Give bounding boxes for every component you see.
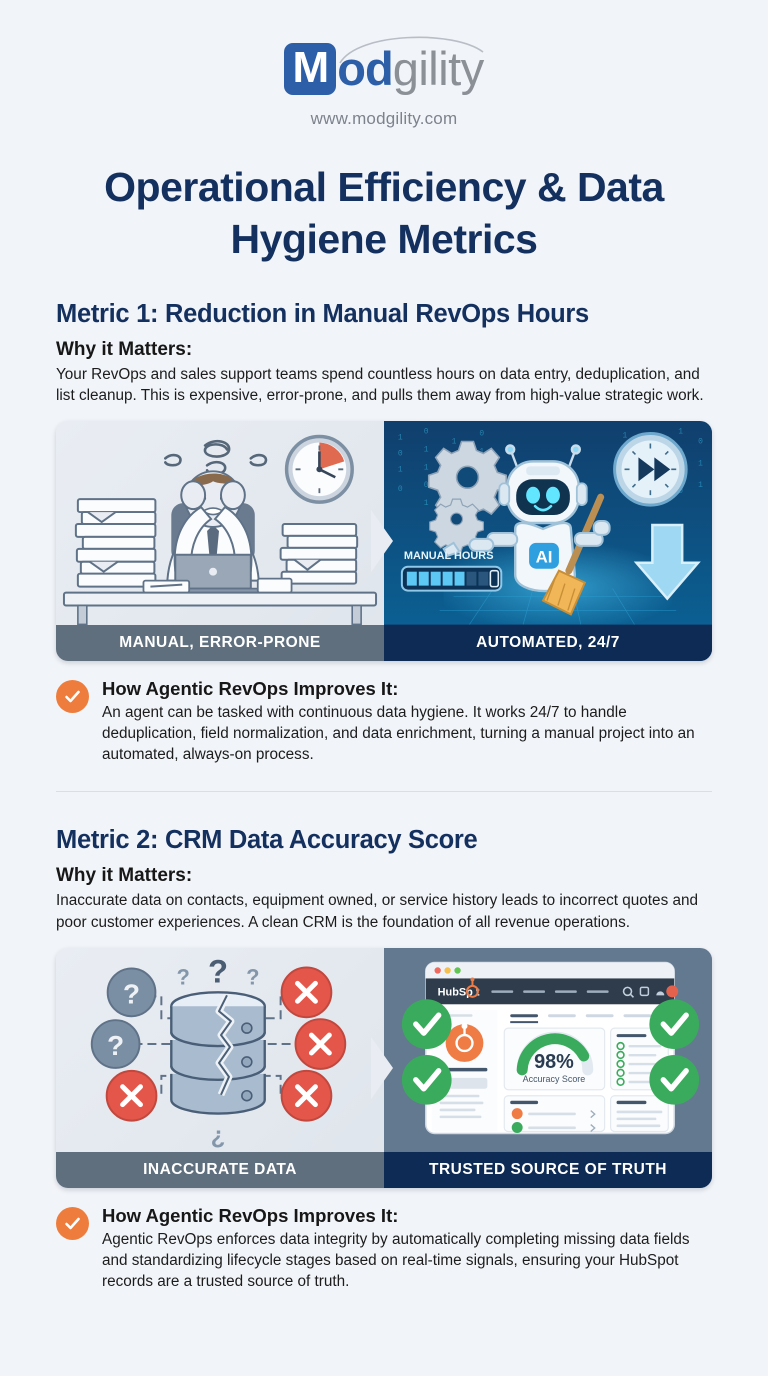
ai-robot-scene: 1010 01101 101 010 1010 011 1010 011: [384, 421, 712, 625]
svg-text:0: 0: [398, 450, 403, 459]
panel-2-left-inaccurate: ? ?: [56, 948, 384, 1188]
check-circle-icon: [56, 680, 89, 713]
website-url: www.modgility.com: [56, 109, 712, 129]
svg-text:1: 1: [398, 465, 403, 474]
metric-1-why-body: Your RevOps and sales support teams spen…: [56, 364, 712, 406]
logo-m-mark: M: [284, 43, 336, 95]
svg-text:1: 1: [424, 499, 429, 508]
broken-database-icon: ? ?: [56, 948, 384, 1152]
svg-text:?: ?: [107, 1030, 124, 1061]
modgility-logo: M od gility: [284, 38, 483, 100]
chevron-right-icon: [371, 510, 397, 572]
svg-text:?: ?: [208, 952, 228, 989]
hubspot-dashboard-icon: HubSp t: [384, 948, 712, 1152]
ai-robot-icon: 1010 01101 101 010 1010 011 1010 011: [384, 421, 712, 625]
metric-2-improves-body: Agentic RevOps enforces data integrity b…: [102, 1229, 712, 1292]
svg-text:¿: ¿: [211, 1122, 226, 1149]
metric-2-why-body: Inaccurate data on contacts, equipment o…: [56, 890, 712, 932]
svg-text:1: 1: [623, 432, 628, 441]
panel-1-right-caption: AUTOMATED, 24/7: [384, 625, 712, 661]
svg-text:0: 0: [698, 438, 703, 447]
panel-1-left-caption: MANUAL, ERROR-PRONE: [56, 625, 384, 661]
metric-2-title: Metric 2: CRM Data Accuracy Score: [56, 826, 712, 855]
manual-hours-meter: [407, 571, 498, 587]
svg-text:0: 0: [424, 428, 429, 437]
svg-text:1: 1: [452, 438, 457, 447]
panel-2-left-caption: INACCURATE DATA: [56, 1152, 384, 1188]
logo-gility-text: gility: [393, 43, 484, 95]
panel-2-right-caption: TRUSTED SOURCE OF TRUTH: [384, 1152, 712, 1188]
metric-section-1: Metric 1: Reduction in Manual RevOps Hou…: [56, 300, 712, 766]
infographic-page: M od gility www.modgility.com Operationa…: [0, 0, 768, 1376]
metric-1-why-label: Why it Matters:: [56, 339, 712, 361]
metric-1-illustration: MANUAL, ERROR-PRONE: [56, 421, 712, 661]
logo-od-text: od: [337, 43, 392, 95]
hubspot-dashboard-scene: HubSp t: [384, 948, 712, 1152]
panel-2-right-trusted: HubSp t: [384, 948, 712, 1188]
svg-text:0: 0: [479, 430, 484, 439]
panel-1-right-automated: 1010 01101 101 010 1010 011 1010 011: [384, 421, 712, 661]
metric-1-improves-body: An agent can be tasked with continuous d…: [102, 702, 712, 765]
svg-text:1: 1: [424, 463, 429, 472]
brand-header: M od gility www.modgility.com: [56, 0, 712, 129]
svg-text:1: 1: [698, 481, 703, 490]
broken-database-scene: ? ?: [56, 948, 384, 1152]
metric-2-illustration: ? ?: [56, 948, 712, 1188]
accuracy-gauge-label: Accuracy Score: [523, 1074, 586, 1084]
check-circle-icon: [56, 1207, 89, 1240]
accuracy-gauge-value: 98%: [534, 1051, 574, 1073]
metric-1-improves-title: How Agentic RevOps Improves It:: [102, 678, 712, 700]
svg-text:1: 1: [698, 460, 703, 469]
metric-2-improves-title: How Agentic RevOps Improves It:: [102, 1205, 712, 1227]
section-divider: [56, 791, 712, 792]
metric-2-why-label: Why it Matters:: [56, 865, 712, 887]
svg-text:?: ?: [246, 964, 259, 989]
check-icon: [63, 687, 82, 706]
stressed-worker-scene: [56, 421, 384, 625]
stressed-worker-icon: [56, 421, 384, 625]
manual-hours-label: MANUAL HOURS: [404, 550, 494, 562]
svg-text:1: 1: [678, 428, 683, 437]
chevron-right-icon: [371, 1037, 397, 1099]
metric-1-title: Metric 1: Reduction in Manual RevOps Hou…: [56, 300, 712, 329]
page-title: Operational Efficiency & Data Hygiene Me…: [56, 161, 712, 266]
svg-text:1: 1: [424, 446, 429, 455]
panel-1-left-manual: MANUAL, ERROR-PRONE: [56, 421, 384, 661]
metric-section-2: Metric 2: CRM Data Accuracy Score Why it…: [56, 826, 712, 1292]
metric-1-improves-block: How Agentic RevOps Improves It: An agent…: [56, 678, 712, 765]
svg-text:?: ?: [123, 978, 140, 1009]
svg-text:0: 0: [398, 485, 403, 494]
svg-text:1: 1: [398, 434, 403, 443]
metric-2-improves-block: How Agentic RevOps Improves It: Agentic …: [56, 1205, 712, 1292]
robot-chest-label: AI: [536, 548, 553, 567]
svg-text:?: ?: [177, 964, 190, 989]
window-traffic-lights: [434, 967, 460, 973]
check-icon: [63, 1214, 82, 1233]
